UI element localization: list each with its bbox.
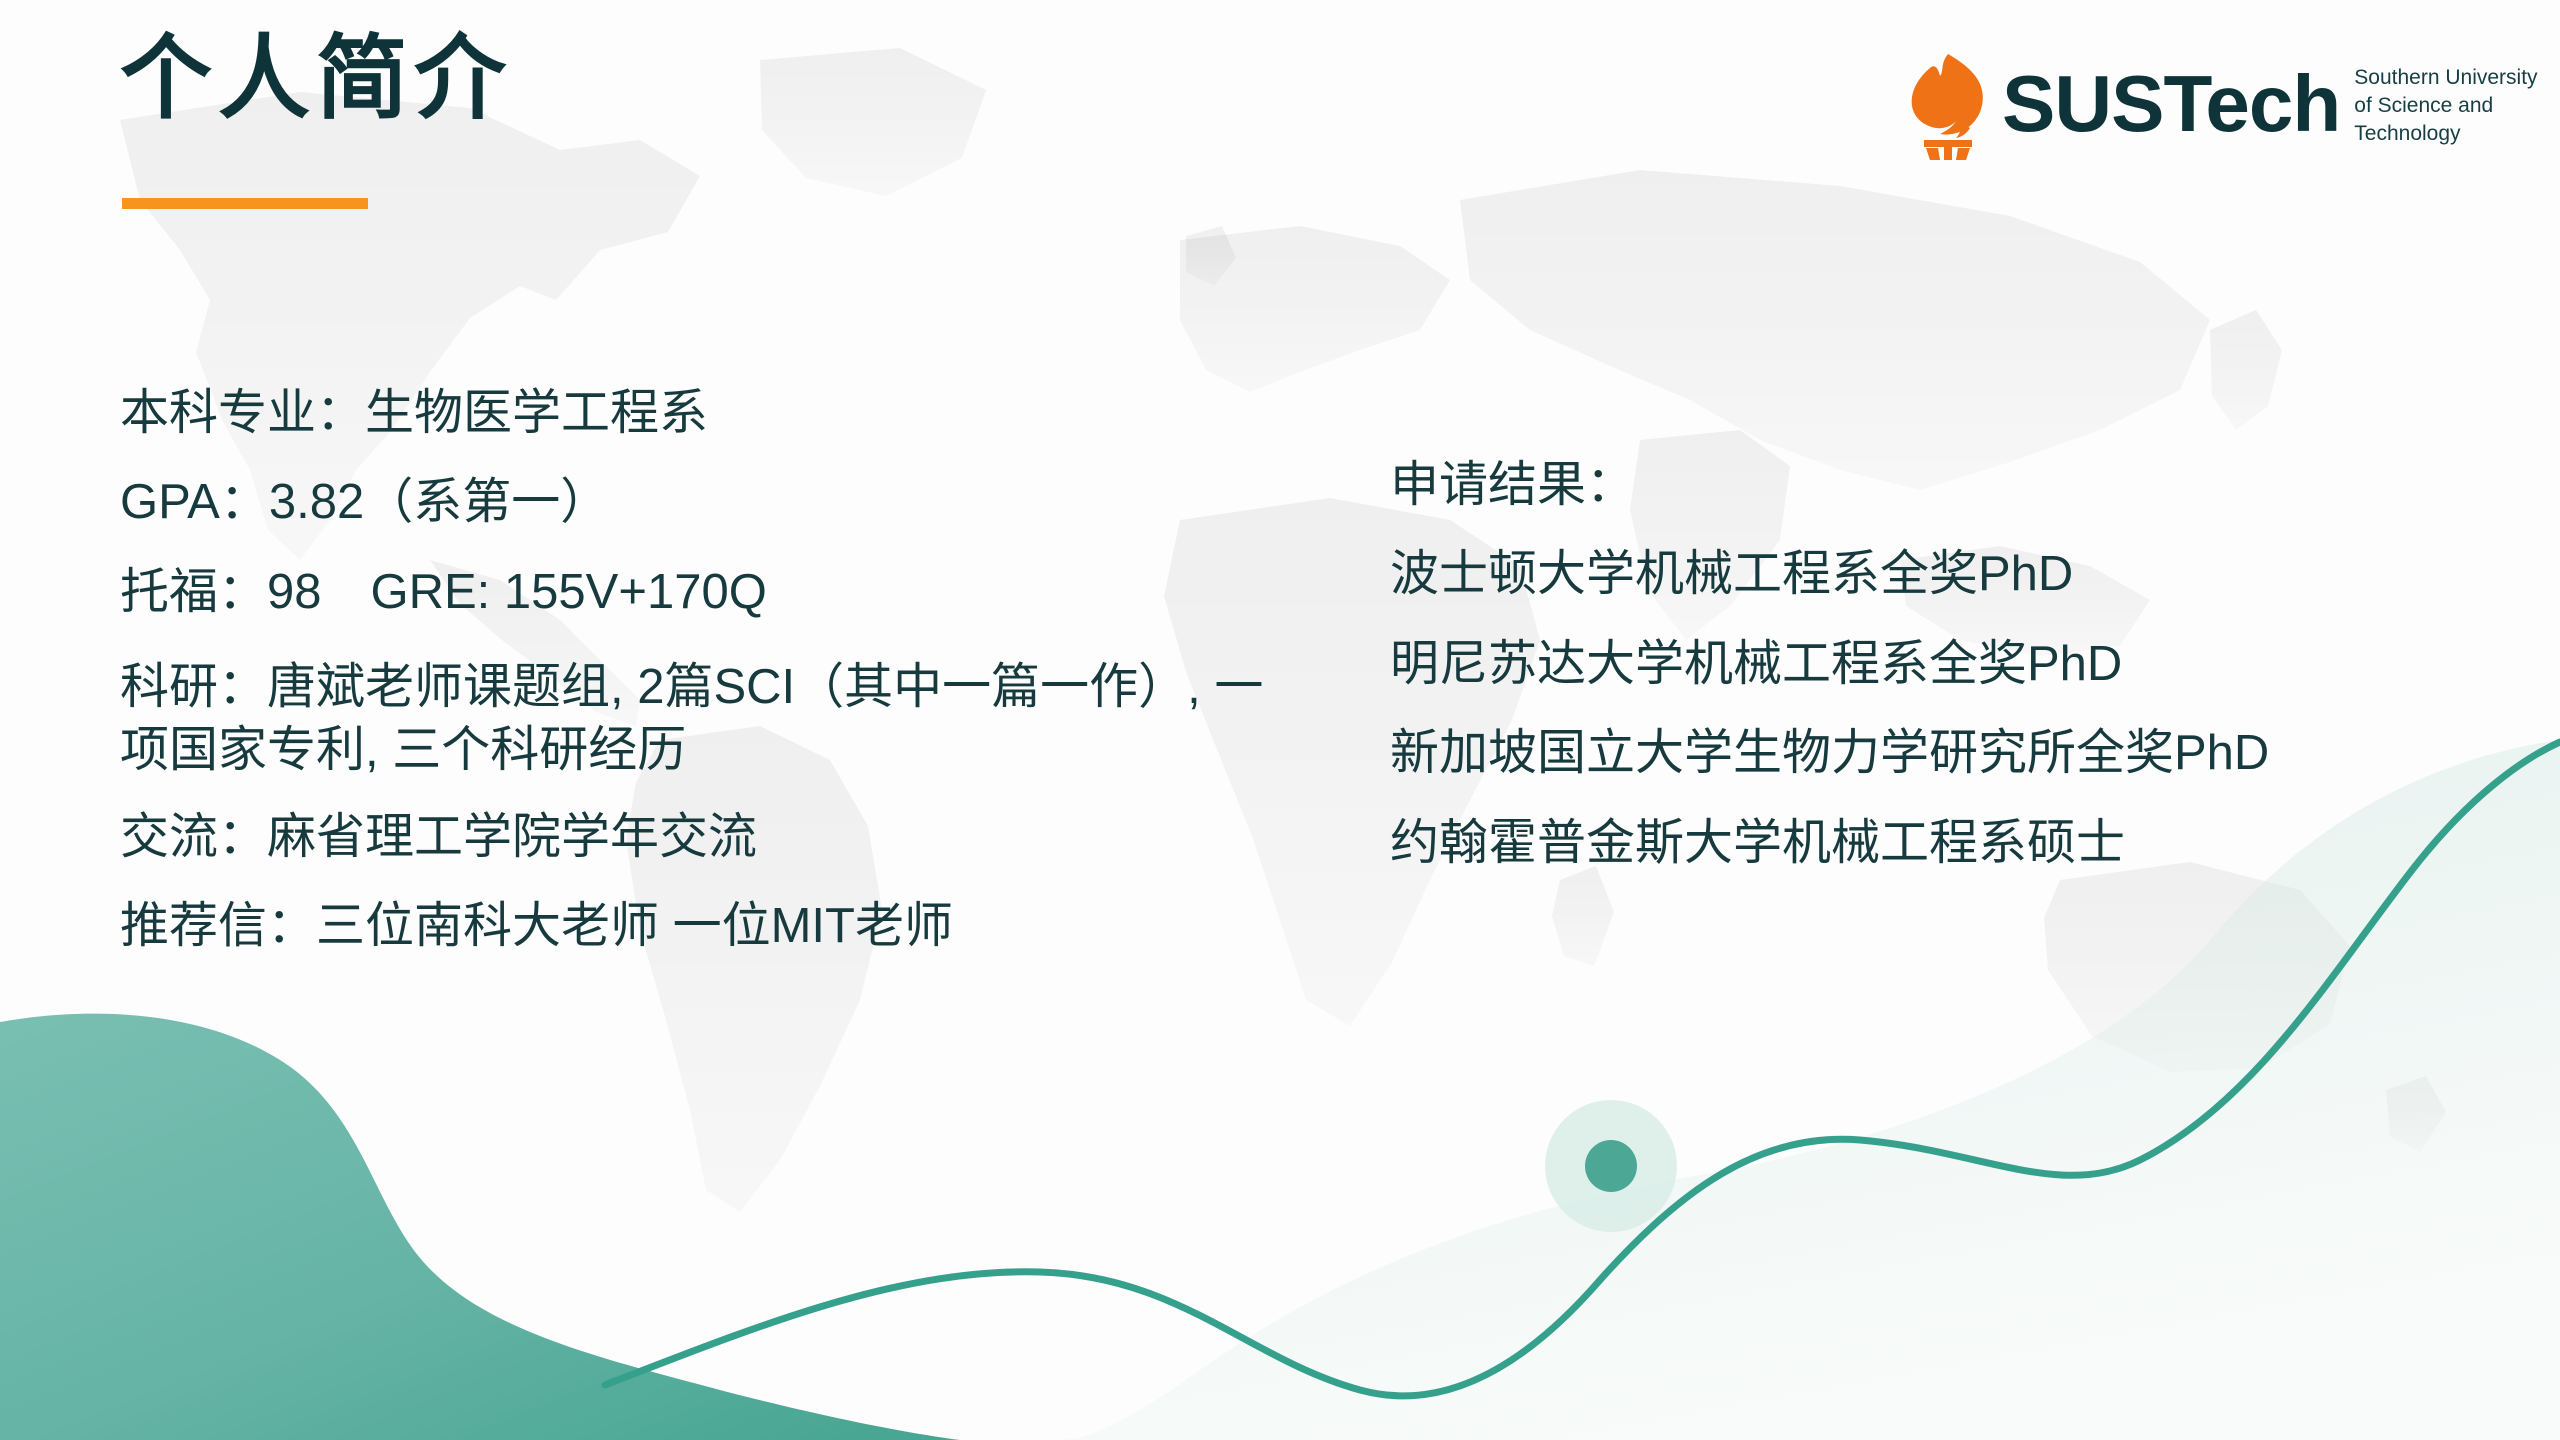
logo-wordmark-tech: Tech (2164, 59, 2341, 148)
logo-wordmark-sus: SUS (2002, 59, 2164, 148)
application-results-column: 申请结果： 波士顿大学机械工程系全奖PhD 明尼苏达大学机械工程系全奖PhD 新… (1390, 460, 2560, 907)
profile-details-column: 本科专业：生物医学工程系 GPA：3.82（系第一） 托福：98 GRE: 15… (120, 388, 1300, 991)
logo-tagline-line2: of Science and (2354, 92, 2537, 120)
page-title: 个人简介 (120, 22, 512, 137)
result-line-jhu: 约翰霍普金斯大学机械工程系硕士 (1390, 818, 2560, 869)
detail-line-recommendations: 推荐信：三位南科大老师 一位MIT老师 (120, 901, 1300, 952)
slide-canvas: 个人简介 SUSTech Southern University of Scie… (0, 0, 2560, 1440)
detail-line-gpa: GPA：3.82（系第一） (120, 477, 1300, 528)
result-line-umn: 明尼苏达大学机械工程系全奖PhD (1390, 639, 2560, 690)
curve-marker-dot (1585, 1140, 1637, 1192)
logo-wordmark: SUSTech (2002, 64, 2340, 144)
detail-line-exchange: 交流：麻省理工学院学年交流 (120, 812, 1300, 863)
curve-marker-halo (1545, 1100, 1677, 1232)
result-line-nus: 新加坡国立大学生物力学研究所全奖PhD (1390, 728, 2560, 779)
detail-line-test-scores: 托福：98 GRE: 155V+170Q (120, 567, 1300, 618)
detail-line-research: 科研：唐斌老师课题组, 2篇SCI（其中一篇一作）, 一项国家专利, 三个科研经… (120, 656, 1300, 781)
result-line-bu: 波士顿大学机械工程系全奖PhD (1390, 549, 2560, 600)
detail-line-major: 本科专业：生物医学工程系 (120, 388, 1300, 439)
torch-flame-icon (1900, 48, 1996, 160)
logo-tagline: Southern University of Science and Techn… (2354, 64, 2537, 147)
sustech-logo: SUSTech Southern University of Science a… (1900, 48, 2538, 160)
results-heading: 申请结果： (1390, 460, 2560, 511)
logo-tagline-line3: Technology (2354, 120, 2537, 148)
title-underline-rule (122, 198, 368, 209)
logo-tagline-line1: Southern University (2354, 64, 2537, 92)
